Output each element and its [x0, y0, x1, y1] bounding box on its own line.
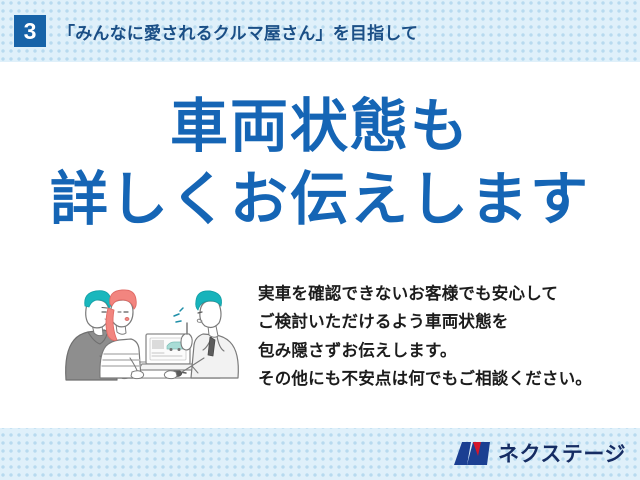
brand-name-text: ネクステージ	[498, 438, 626, 468]
body-line-1: 実車を確認できないお客様でも安心して	[258, 280, 630, 308]
brand-logo: ネクステージ	[453, 438, 626, 468]
step-number-badge: 3	[14, 15, 46, 47]
footer-bar: ネクステージ	[0, 428, 640, 480]
illustration-svg	[52, 274, 252, 396]
headline: 車両状態も 詳しくお伝えします	[0, 96, 640, 231]
header-title: 「みんなに愛されるクルマ屋さん」を目指して	[58, 19, 418, 44]
headline-line-2: 詳しくお伝えします	[0, 169, 640, 230]
consultation-illustration	[52, 274, 252, 396]
content-panel: 車両状態も 詳しくお伝えします	[0, 62, 640, 428]
body-line-4: その他にも不安点は何でもご相談ください。	[258, 365, 630, 393]
lower-section: 実車を確認できないお客様でも安心して ご検討いただけるよう車両状態を 包み隠さず…	[0, 272, 640, 412]
advertisement-frame: 3 「みんなに愛されるクルマ屋さん」を目指して 車両状態も 詳しくお伝えします	[0, 0, 640, 480]
body-line-3: 包み隠さずお伝えします。	[258, 337, 630, 365]
body-paragraph: 実車を確認できないお客様でも安心して ご検討いただけるよう車両状態を 包み隠さず…	[258, 280, 630, 394]
header-bar: 3 「みんなに愛されるクルマ屋さん」を目指して	[0, 0, 640, 62]
nextage-n-mark-icon	[453, 440, 491, 467]
headline-line-1: 車両状態も	[0, 96, 640, 157]
body-line-2: ご検討いただけるよう車両状態を	[258, 308, 630, 336]
